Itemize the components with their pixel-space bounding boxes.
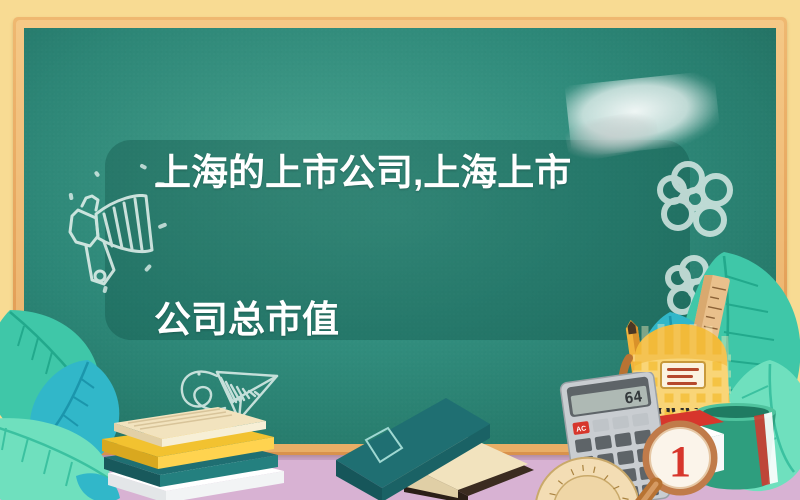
page-title-line1: 上海的上市公司,上海上市 [154, 148, 624, 197]
page-title-line2: 公司总市值 [154, 295, 624, 344]
calculator-display: 64 [623, 387, 643, 407]
megaphone-icon [42, 158, 172, 298]
screenshot-root: 64 AC [0, 0, 800, 500]
page-title: 上海的上市公司,上海上市 公司总市值 [154, 50, 624, 442]
magnifier-value: 1 [669, 437, 691, 486]
protractor [528, 432, 638, 500]
magnifying-glass: 1 [628, 418, 728, 500]
